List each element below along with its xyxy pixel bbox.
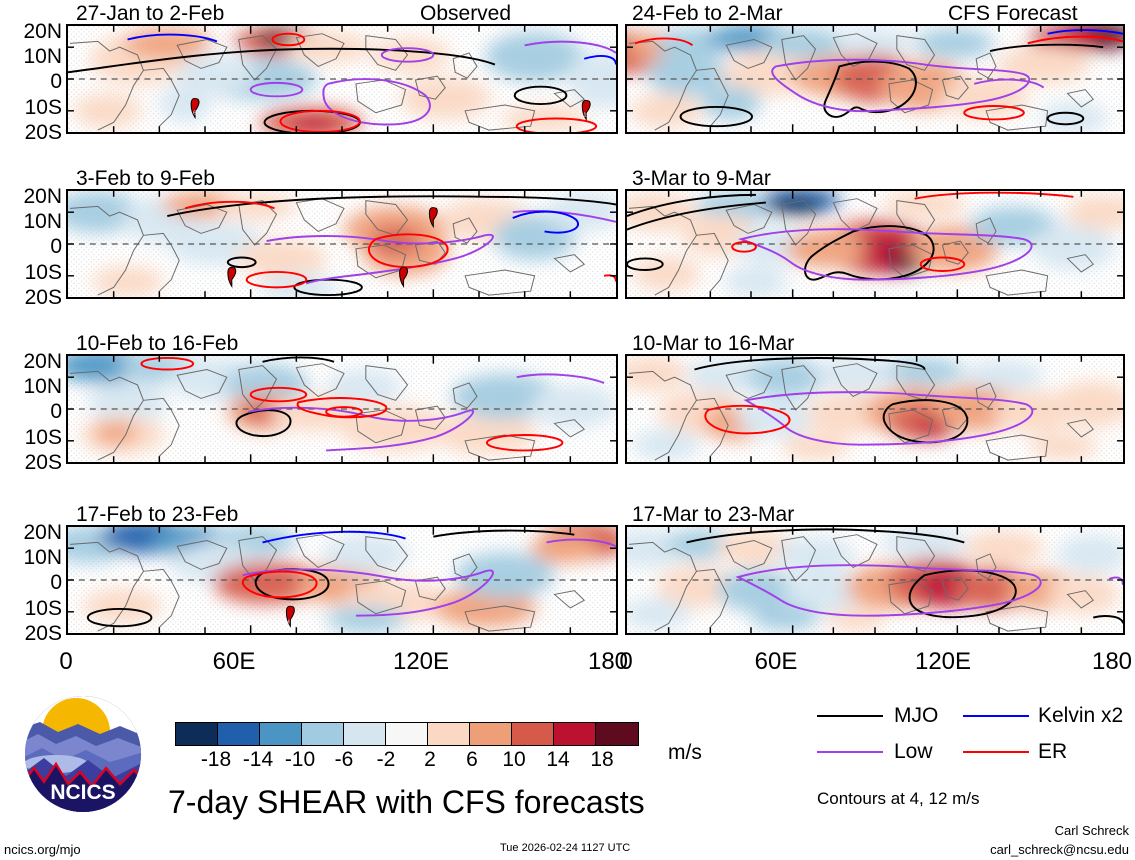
svg-text:H: H [285,619,289,625]
author-name: Carl Schreck [951,824,1129,837]
colorbar[interactable] [175,722,639,746]
svg-text:10: 10 [583,113,590,119]
x-tick-0: 0 [46,650,86,674]
y-tick-0: 0 [0,236,62,257]
map-svg-obs-4: H [68,527,616,633]
x-tick-0: 0 [606,650,646,674]
y-tick-10N: 10N [0,46,62,67]
colorbar-swatch-10 [596,723,638,745]
panel-title-obs-3: 10-Feb to 16-Feb [76,333,238,354]
legend-swatch-low [817,751,883,753]
colorbar-tick--2: -2 [366,749,406,770]
map-panel-obs-1[interactable]: 6 10 [66,24,618,134]
contour-note: Contours at 4, 12 m/s [817,790,980,807]
ncics-logo: NCICS [22,692,144,816]
logo-text: NCICS [50,781,115,804]
map-panel-fcst-2[interactable] [625,189,1125,299]
column-header-observed: Observed [420,3,511,24]
legend-label-mjo: MJO [894,705,938,726]
panel-title-obs-2: 3-Feb to 9-Feb [76,168,215,189]
y-tick-20N: 20N [0,522,62,543]
colorbar-tick-2: 2 [412,749,448,770]
site-url[interactable]: ncics.org/mjo [4,843,81,856]
colorbar-swatch-7 [470,723,512,745]
colorbar-swatch-3 [302,723,344,745]
x-tick-60E: 60E [745,650,807,674]
y-tick-20S: 20S [0,287,62,308]
colorbar-tick--10: -10 [278,749,322,770]
y-tick-10N: 10N [0,376,62,397]
x-tick-180: 180 [1084,650,1135,674]
colorbar-tick--18: -18 [194,749,238,770]
panel-title-fcst-3: 10-Mar to 16-Mar [632,333,794,354]
y-tick-20N: 20N [0,21,62,42]
map-svg-obs-1: 6 10 [68,26,616,132]
colorbar-tick-14: 14 [538,749,578,770]
y-tick-10S: 10S [0,97,62,118]
y-tick-20N: 20N [0,186,62,207]
map-svg-fcst-4 [627,527,1123,633]
panel-title-fcst-2: 3-Mar to 9-Mar [632,168,771,189]
colorbar-tick-6: 6 [454,749,490,770]
y-tick-20N: 20N [0,351,62,372]
map-panel-obs-4[interactable]: H [66,525,618,635]
y-tick-20S: 20S [0,452,62,473]
legend-swatch-er [963,751,1029,753]
timestamp: Tue 2026-02-24 1127 UTC [500,843,630,854]
y-tick-10S: 10S [0,262,62,283]
colorbar-tick--14: -14 [236,749,280,770]
y-tick-10N: 10N [0,211,62,232]
map-panel-fcst-1[interactable] [625,24,1125,134]
column-header-forecast: CFS Forecast [948,3,1078,24]
map-svg-fcst-1 [627,26,1123,132]
map-panel-obs-2[interactable] [66,189,618,299]
y-tick-10S: 10S [0,427,62,448]
legend-swatch-mjo [817,715,883,717]
map-svg-obs-3 [68,356,616,462]
map-panel-fcst-3[interactable] [625,354,1125,464]
map-svg-fcst-2 [627,191,1123,297]
colorbar-swatch-4 [344,723,386,745]
y-tick-0: 0 [0,71,62,92]
legend-label-low: Low [894,741,933,762]
colorbar-swatch-1 [218,723,260,745]
x-tick-120E: 120E [909,650,977,674]
legend-label-kelvin: Kelvin x2 [1038,705,1123,726]
page-title: 7-day SHEAR with CFS forecasts [168,786,645,818]
colorbar-swatch-9 [554,723,596,745]
colorbar-swatch-5 [386,723,428,745]
colorbar-swatch-0 [176,723,218,745]
legend-swatch-kelvin [963,715,1029,717]
map-svg-obs-2 [68,191,616,297]
colorbar-units-label: m/s [668,742,702,763]
y-tick-10N: 10N [0,547,62,568]
colorbar-swatch-6 [428,723,470,745]
legend-label-er: ER [1038,741,1067,762]
svg-text:6: 6 [193,111,196,117]
panel-title-fcst-4: 17-Mar to 23-Mar [632,504,794,525]
y-tick-0: 0 [0,572,62,593]
y-tick-10S: 10S [0,598,62,619]
y-tick-0: 0 [0,401,62,422]
colorbar-swatch-2 [260,723,302,745]
colorbar-swatch-8 [512,723,554,745]
y-tick-20S: 20S [0,122,62,143]
author-email[interactable]: carl_schreck@ncsu.edu [931,843,1129,856]
colorbar-tick-18: 18 [582,749,622,770]
panel-title-obs-4: 17-Feb to 23-Feb [76,504,238,525]
map-panel-obs-3[interactable] [66,354,618,464]
colorbar-tick-10: 10 [494,749,534,770]
map-svg-fcst-3 [627,356,1123,462]
y-tick-20S: 20S [0,623,62,644]
map-panel-fcst-4[interactable] [625,525,1125,635]
colorbar-tick--6: -6 [324,749,364,770]
panel-title-obs-1: 27-Jan to 2-Feb [76,3,224,24]
x-tick-60E: 60E [203,650,265,674]
x-tick-120E: 120E [387,650,455,674]
panel-title-fcst-1: 24-Feb to 2-Mar [632,3,783,24]
